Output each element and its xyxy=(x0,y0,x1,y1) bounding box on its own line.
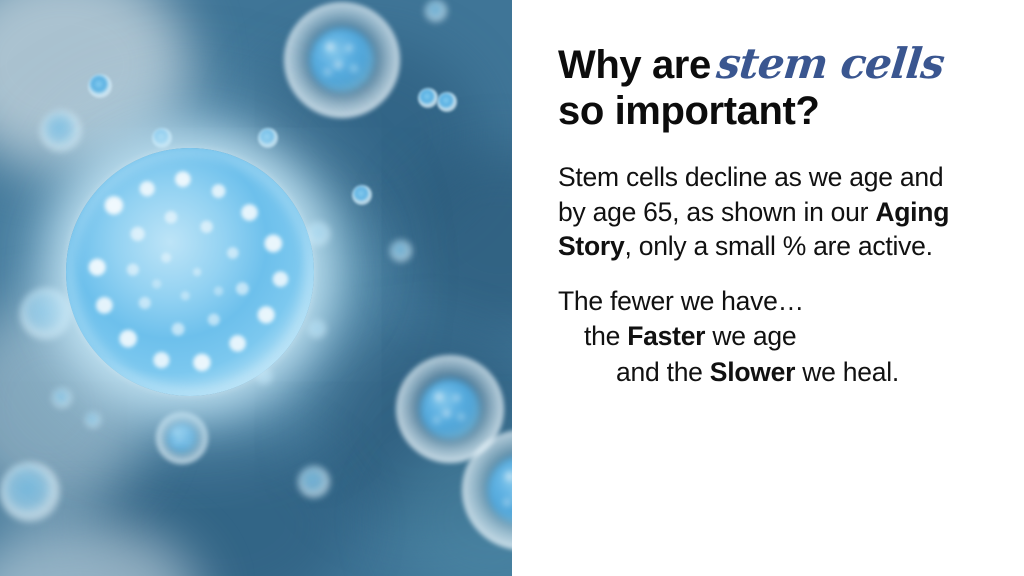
faster-emphasis: Faster xyxy=(627,321,705,351)
headline-script-accent: stem cells xyxy=(708,40,946,88)
paragraph-stem-cell-decline: Stem cells decline as we age and by age … xyxy=(558,160,966,263)
stem-cell-medium xyxy=(156,412,208,464)
headline-part2: so important? xyxy=(558,89,819,133)
emphasis-line-3-pre: and the xyxy=(616,357,710,387)
slide: Why arestem cells so important? Stem cel… xyxy=(0,0,1024,576)
paragraph-segment: , only a small % are active. xyxy=(625,231,933,261)
stem-cell-small xyxy=(40,110,82,152)
emphasis-line-3: and the Slower we heal. xyxy=(558,355,978,391)
stem-cell-small xyxy=(52,388,72,408)
stem-cell-medium xyxy=(284,2,400,118)
emphasis-line-3-post: we heal. xyxy=(795,357,899,387)
cell-mottle xyxy=(168,424,195,451)
cell-rim-glow xyxy=(66,148,314,396)
cell-mottle xyxy=(422,381,478,437)
stem-cell-small xyxy=(390,240,412,262)
stem-cell-small xyxy=(85,412,101,428)
emphasis-line-2: the Faster we age xyxy=(558,319,978,355)
stem-cell-small xyxy=(308,320,326,338)
emphasis-line-1: The fewer we have… xyxy=(558,284,978,320)
stem-cell-small xyxy=(298,466,330,498)
text-panel: Why arestem cells so important? Stem cel… xyxy=(512,0,1024,576)
slower-emphasis: Slower xyxy=(710,357,795,387)
stem-cell-small xyxy=(88,74,112,98)
emphasis-line-2-pre: the xyxy=(584,321,627,351)
stem-cell-small xyxy=(352,185,372,205)
emphasis-line-2-post: we age xyxy=(705,321,796,351)
stem-cell-small xyxy=(437,92,457,112)
stem-cell-small xyxy=(0,462,60,522)
emphasis-block: The fewer we have… the Faster we age and… xyxy=(558,284,978,391)
stem-cell-image xyxy=(0,0,512,576)
stem-cell-hero xyxy=(66,148,314,396)
page-title: Why arestem cells so important? xyxy=(558,40,978,134)
stem-cell-small xyxy=(425,0,447,22)
stem-cell-small xyxy=(258,128,278,148)
stem-cell-small xyxy=(20,288,72,340)
headline-part1: Why are xyxy=(558,43,711,87)
stem-cell-small xyxy=(418,88,438,108)
cell-mottle xyxy=(312,30,372,90)
stem-cell-small xyxy=(152,128,172,148)
